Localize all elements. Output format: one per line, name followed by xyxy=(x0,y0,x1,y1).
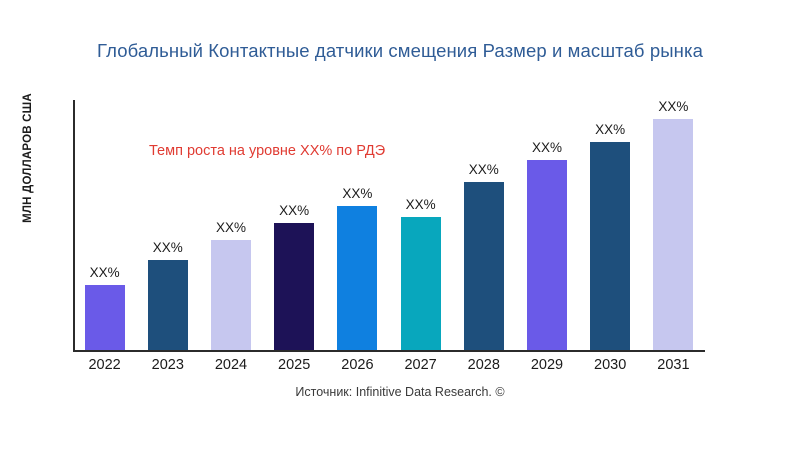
bar-rect-2027 xyxy=(401,217,441,350)
x-tick-2025: 2025 xyxy=(260,357,328,373)
bar-rect-2023 xyxy=(148,260,188,350)
bar-rect-2030 xyxy=(590,142,630,350)
x-tick-2022: 2022 xyxy=(71,357,139,373)
chart-title: Глобальный Контактные датчики смещения Р… xyxy=(0,40,800,62)
plot-area: XX%XX%XX%XX%XX%XX%XX%XX%XX%XX% xyxy=(73,100,705,350)
bar-value-label-2024: XX% xyxy=(197,220,265,235)
bar-rect-2029 xyxy=(527,160,567,350)
bar-value-label-2022: XX% xyxy=(71,265,139,280)
bar-rect-2026 xyxy=(337,206,377,350)
bar-rect-2025 xyxy=(274,223,314,350)
bar-rect-2024 xyxy=(211,240,251,350)
bar-rect-2028 xyxy=(464,182,504,350)
bar-value-label-2026: XX% xyxy=(323,186,391,201)
bar-rect-2031 xyxy=(653,119,693,350)
market-size-bar-chart: Глобальный Контактные датчики смещения Р… xyxy=(0,0,800,450)
bar-value-label-2023: XX% xyxy=(134,240,202,255)
x-tick-2029: 2029 xyxy=(513,357,581,373)
x-tick-2031: 2031 xyxy=(639,357,707,373)
x-tick-2026: 2026 xyxy=(323,357,391,373)
bar-value-label-2031: XX% xyxy=(639,99,707,114)
x-axis-line xyxy=(73,350,705,352)
x-tick-2023: 2023 xyxy=(134,357,202,373)
x-tick-2027: 2027 xyxy=(387,357,455,373)
x-tick-2030: 2030 xyxy=(576,357,644,373)
bar-value-label-2029: XX% xyxy=(513,140,581,155)
y-axis-label: МЛН ДОЛЛАРОВ США xyxy=(22,68,34,248)
x-tick-2024: 2024 xyxy=(197,357,265,373)
y-axis-line xyxy=(73,100,75,350)
bar-value-label-2028: XX% xyxy=(450,162,518,177)
x-tick-2028: 2028 xyxy=(450,357,518,373)
growth-rate-annotation: Темп роста на уровне XX% по РДЭ xyxy=(149,143,385,159)
bar-value-label-2030: XX% xyxy=(576,122,644,137)
bar-value-label-2025: XX% xyxy=(260,203,328,218)
bar-rect-2022 xyxy=(85,285,125,350)
bar-value-label-2027: XX% xyxy=(387,197,455,212)
source-note: Источник: Infinitive Data Research. © xyxy=(0,385,800,399)
